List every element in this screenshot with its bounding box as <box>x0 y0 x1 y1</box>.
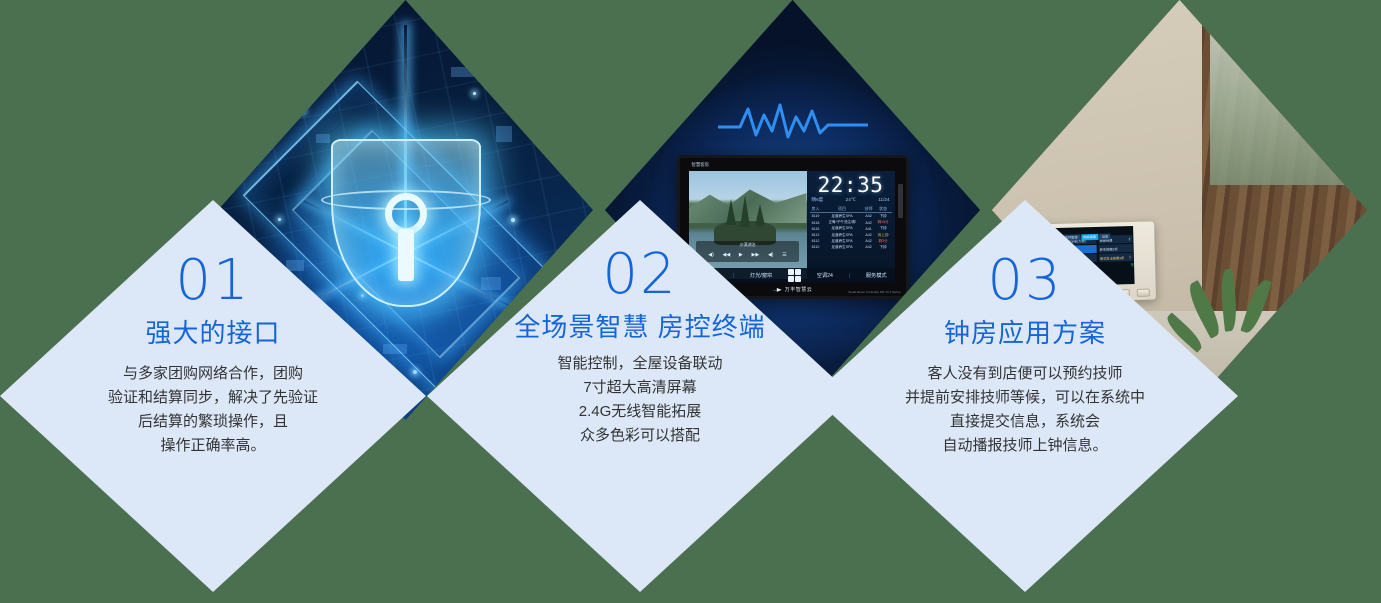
list-item: 养生按摩2项 <box>1098 244 1132 253</box>
clock-sub-info: 晴6度 24℃ 11/24 <box>810 196 892 205</box>
card-body: 客人没有到店便可以预约技师 并提前安排技师等候，可以在系统中 直接提交信息，系统… <box>858 362 1192 458</box>
media-buttons[interactable]: ◀) ◀◀ ▶ ▶▶ ◀) ☰ <box>704 252 791 258</box>
card-title-line: 全场景智慧 <box>514 312 649 342</box>
date-label: 11/24 <box>878 197 889 203</box>
next-icon[interactable]: ▶▶ <box>752 252 760 258</box>
home-grid-icon[interactable] <box>788 269 801 282</box>
card-title-line: 钟房应用方案 <box>944 318 1106 348</box>
indoor-temp-label: 24℃ <box>846 197 856 203</box>
tablet-screen[interactable]: 沙漠湖泊 ◀) ◀◀ ▶ ▶▶ ◀) ☰ 22:35 <box>689 171 895 279</box>
clock-display: 22:35 <box>810 174 892 196</box>
card-body-line: 7寸超大高清屏幕 <box>473 376 807 400</box>
col-tech: 技师 <box>863 205 875 213</box>
panel-tabs[interactable]: 技师管理 钟房调度 设置 <box>1063 233 1111 240</box>
brand-name: 万丰智慧云 <box>785 286 813 293</box>
list-icon[interactable]: ☰ <box>782 252 786 258</box>
tab-room-dispatch[interactable]: 钟房调度 <box>1081 233 1099 240</box>
hw-button[interactable] <box>1137 288 1150 296</box>
feature-diamond-grid: 智慧客房 沙漠湖泊 ◀) ◀◀ <box>0 0 1381 603</box>
card-body-line: 自动播报技师上钟信息。 <box>858 434 1192 458</box>
taskbar-item-aircon[interactable]: 空调24 <box>817 272 833 279</box>
card-body-line: 验证和结算同步，解决了先验证 <box>46 386 380 410</box>
card-title: 全场景智慧 房控终端 <box>473 310 807 344</box>
keyhole-stem-decoration <box>398 229 414 281</box>
pulse-wave-icon <box>718 101 868 143</box>
card-title: 强大的接口 <box>46 316 380 350</box>
divider: | <box>849 273 850 279</box>
table-row: 8110足道养生SPAA42下钟 <box>810 244 892 250</box>
card-title-line: 房控终端 <box>658 312 766 342</box>
card-body-line: 并提前安排技师等候，可以在系统中 <box>858 386 1192 410</box>
window-area <box>1210 17 1345 185</box>
online-status: 在线 <box>1131 261 1135 266</box>
mute-icon[interactable]: ◀) <box>768 252 774 258</box>
brand-logo-icon <box>773 287 782 292</box>
col-room: 房入 <box>810 205 822 213</box>
weather-label: 晴6度 <box>812 197 824 203</box>
tab-settings[interactable]: 设置 <box>1100 233 1111 239</box>
card-body: 与多家团购网络合作，团购 验证和结算同步，解决了先验证 后结算的繁琐操作，且 操… <box>46 362 380 458</box>
card-body-line: 众多色彩可以搭配 <box>473 424 807 448</box>
card-body-line: 与多家团购网络合作，团购 <box>46 362 380 386</box>
card-body-line: 智能控制，全屋设备联动 <box>473 352 807 376</box>
tablet-side-bar <box>898 184 903 218</box>
card-title-line: 强大的接口 <box>145 318 280 348</box>
card-title: 钟房应用方案 <box>858 316 1192 350</box>
list-item: 泰式古法按摩3项1 <box>1099 253 1133 262</box>
divider: | <box>733 273 734 279</box>
card-body-line: 2.4G无线智能拓展 <box>473 400 807 424</box>
table-row: 8119足道养生SPAA42下钟 <box>810 213 892 220</box>
card-body-line: 客人没有到店便可以预约技师 <box>858 362 1192 386</box>
tablet-model-note: Smart Room Controller WF-TC7 Series <box>848 290 900 294</box>
table-header-row: 房入 项目 技师 状态 <box>810 205 892 213</box>
col-state: 状态 <box>875 205 892 213</box>
taskbar-item-lighting[interactable]: 灯光/窗帘 <box>750 272 772 279</box>
room-status-table: 房入 项目 技师 状态 8119足道养生SPAA42下钟 8118正骨/子午流注… <box>810 205 892 250</box>
table-body: 8119足道养生SPAA42下钟 8118正骨/子午流注/脚A42剩15分 81… <box>810 213 892 251</box>
card-body-line: 直接提交信息，系统会 <box>858 410 1192 434</box>
play-icon[interactable]: ▶ <box>739 252 743 258</box>
tablet-status-label: 智慧客房 <box>692 162 710 168</box>
volume-icon[interactable]: ◀) <box>708 252 714 258</box>
status-panel: 22:35 晴6度 24℃ 11/24 房入 项目 技师 <box>807 171 895 279</box>
scenic-caption: 沙漠湖泊 <box>696 242 800 248</box>
taskbar-item-service-mode[interactable]: 服务模式 <box>866 272 887 279</box>
media-control-bar[interactable]: 沙漠湖泊 ◀) ◀◀ ▶ ▶▶ ◀) ☰ <box>696 241 800 263</box>
col-item: 项目 <box>822 205 863 213</box>
card-body: 智能控制，全屋设备联动 7寸超大高清屏幕 2.4G无线智能拓展 众多色彩可以搭配 <box>473 352 807 448</box>
prev-icon[interactable]: ◀◀ <box>722 252 730 258</box>
card-body-line: 操作正确率高。 <box>46 434 380 458</box>
card-body-line: 后结算的繁琐操作，且 <box>46 410 380 434</box>
